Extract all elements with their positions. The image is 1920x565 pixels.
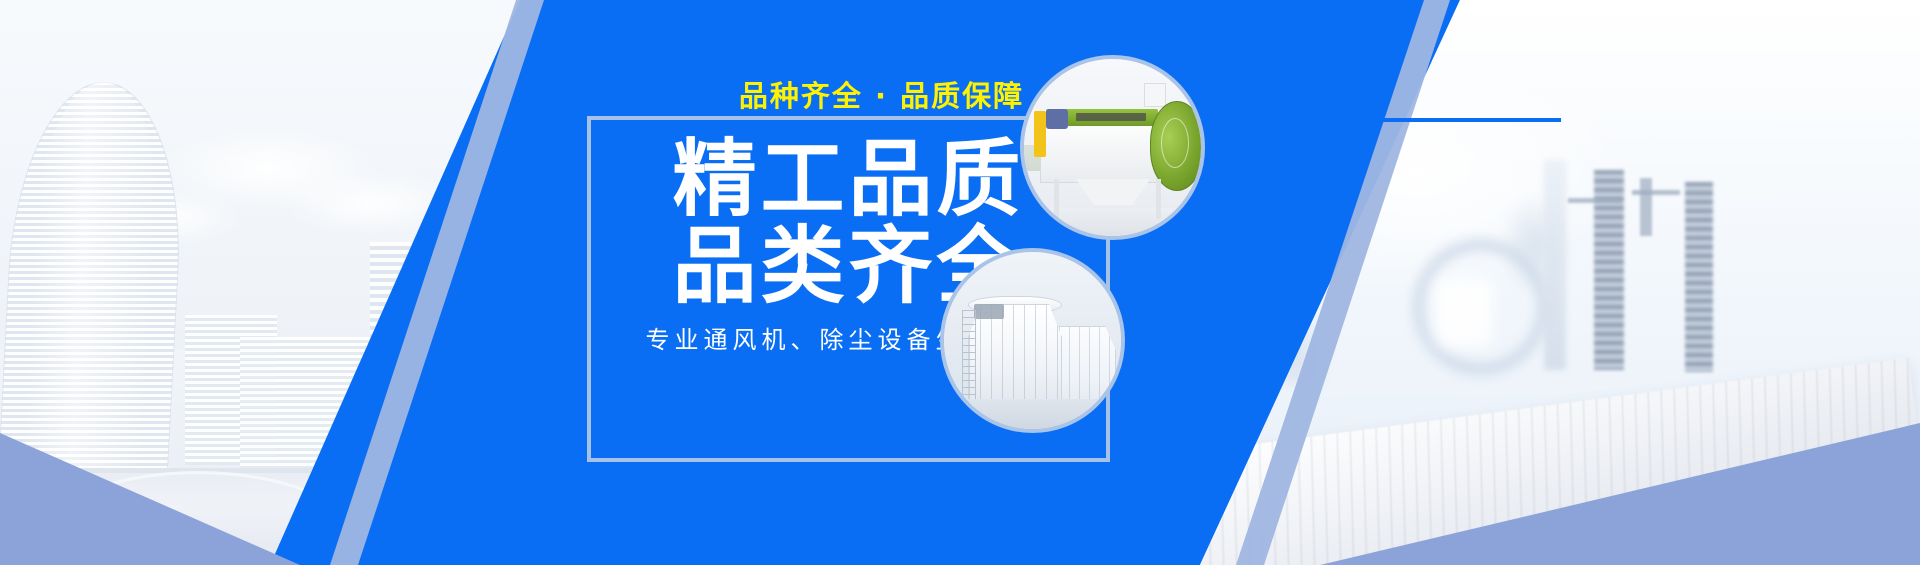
product-2-base-pad — [944, 399, 1121, 429]
crane-arm-1 — [1568, 198, 1622, 203]
product-1-duct — [1144, 83, 1166, 107]
cooling-tower-ladder — [962, 310, 976, 410]
window-glow — [1436, 278, 1492, 346]
highrise-tower-3 — [1640, 178, 1652, 236]
right-cityscape-photo — [1200, 0, 1920, 565]
cooling-tower-inlet — [974, 304, 1004, 319]
cooling-tower-main — [968, 304, 1062, 414]
product-1-floor — [1024, 208, 1201, 236]
product-1-leg-left — [1054, 179, 1059, 219]
building-block-b — [240, 337, 370, 469]
highrise-tower-2 — [1685, 182, 1713, 372]
building-block-e — [448, 282, 560, 467]
product-1-motor — [1046, 109, 1068, 129]
product-1-green-drum — [1150, 101, 1204, 191]
product-1-yellow-guard — [1034, 111, 1046, 157]
frame-top-gap — [1251, 118, 1561, 122]
crane-arm-2 — [1632, 190, 1680, 195]
product-1-leg-right — [1156, 179, 1161, 219]
blurred-spire — [1544, 160, 1566, 370]
product-photo-cooling-tower — [940, 248, 1125, 433]
product-photo-fan — [1020, 55, 1205, 240]
hero-banner: 品种齐全 · 品质保障 精工品质 品类齐全 专业通风机、除尘设备生产厂家 — [0, 0, 1920, 565]
